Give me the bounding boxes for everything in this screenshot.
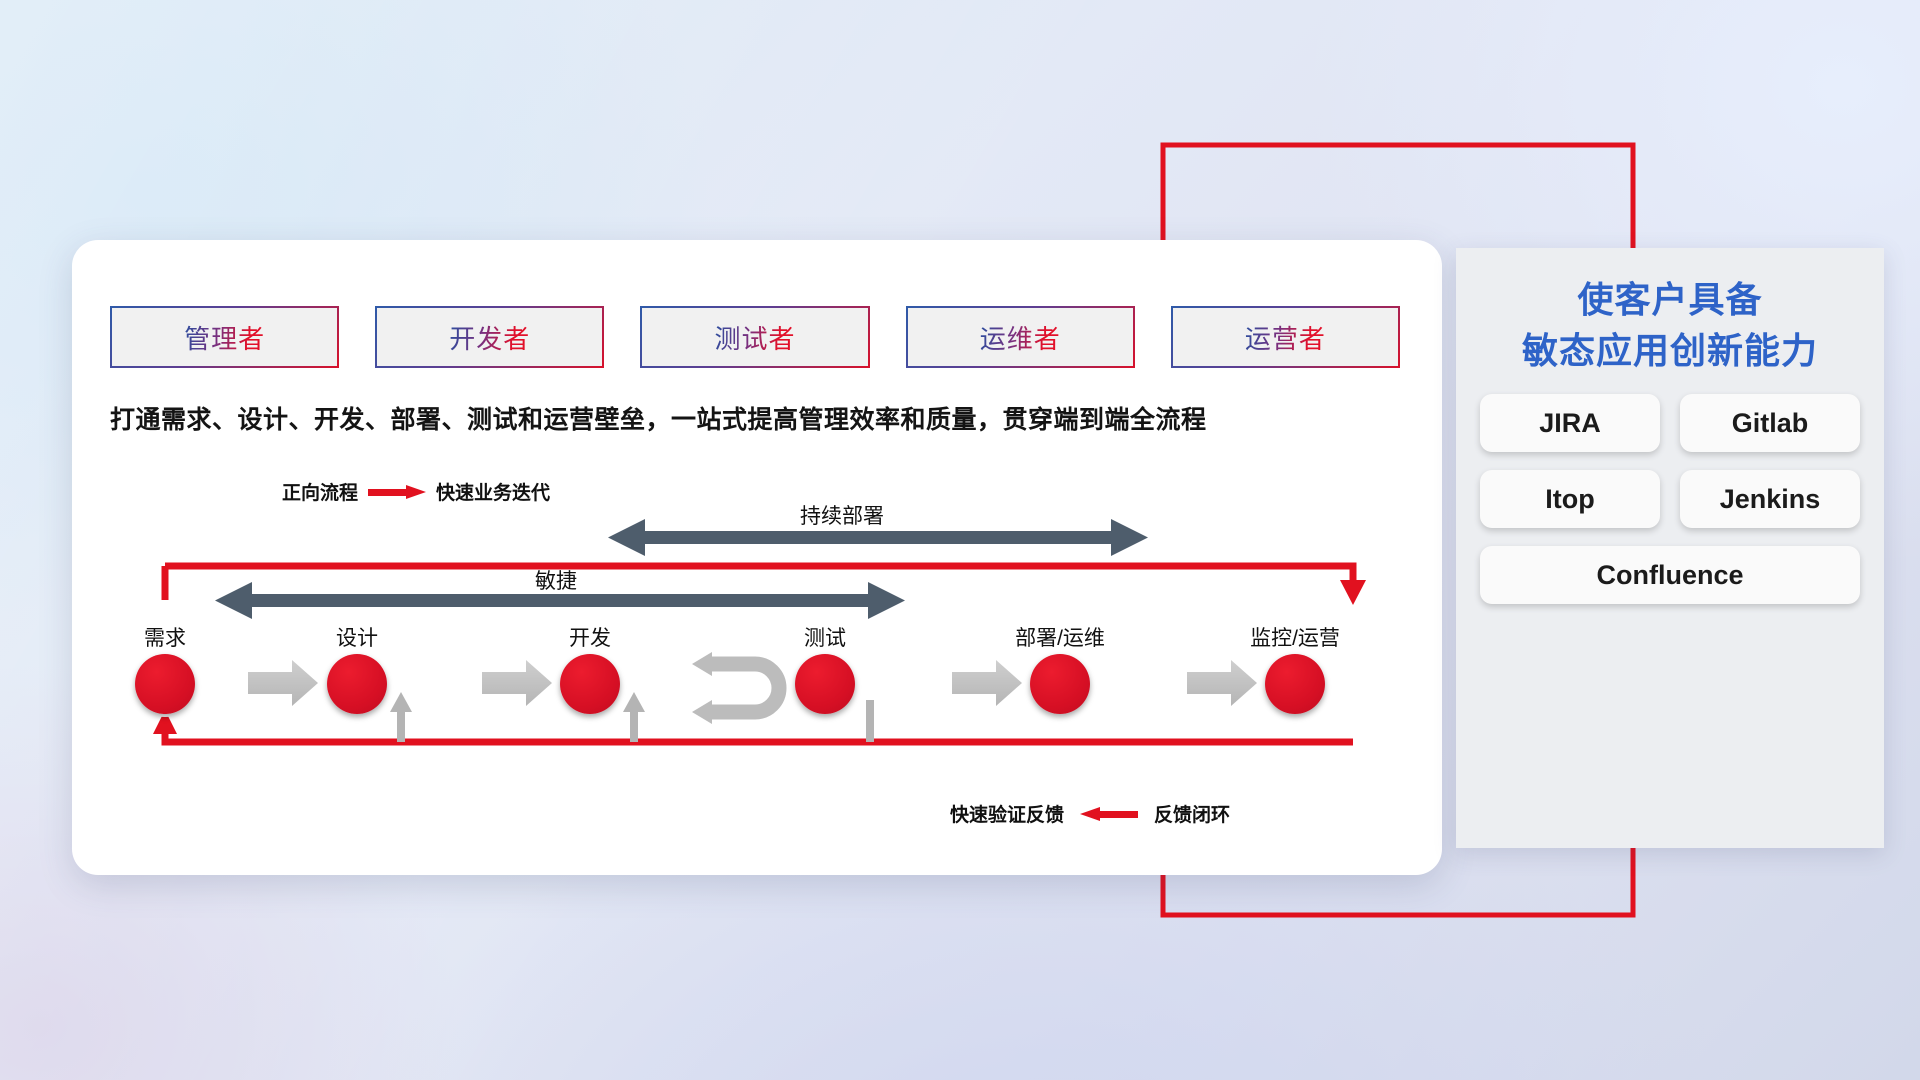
- stage-label: 开发: [530, 622, 650, 652]
- role-box-label: 运营者: [1245, 319, 1326, 356]
- tool-button-itop[interactable]: Itop: [1480, 470, 1660, 528]
- continuous-deploy-label: 持续部署: [800, 500, 884, 530]
- agile-label: 敏捷: [535, 565, 577, 595]
- stage-5[interactable]: 监控/运营: [1235, 622, 1355, 714]
- role-box-4[interactable]: 运营者: [1171, 306, 1400, 368]
- stage-dot: [1265, 654, 1325, 714]
- feedback-to-label: 反馈闭环: [1154, 800, 1230, 827]
- stage-dot: [1030, 654, 1090, 714]
- tools-panel-title: 使客户具备 敏态应用创新能力: [1456, 274, 1884, 376]
- stage-2[interactable]: 开发: [530, 622, 650, 714]
- forward-flow-from-label: 正向流程: [282, 478, 358, 505]
- role-box-1[interactable]: 开发者: [375, 306, 604, 368]
- headline-text: 打通需求、设计、开发、部署、测试和运营壁垒，一站式提高管理效率和质量，贯穿端到端…: [110, 400, 1410, 436]
- stage-dot: [560, 654, 620, 714]
- role-box-3[interactable]: 运维者: [906, 306, 1135, 368]
- role-box-label: 开发者: [449, 319, 530, 356]
- stage-label: 测试: [765, 622, 885, 652]
- role-box-2[interactable]: 测试者: [640, 306, 869, 368]
- tool-button-gitlab[interactable]: Gitlab: [1680, 394, 1860, 452]
- stage-4[interactable]: 部署/运维: [1000, 622, 1120, 714]
- tools-title-line2: 敏态应用创新能力: [1456, 325, 1884, 376]
- tools-title-line1: 使客户具备: [1456, 274, 1884, 325]
- stage-label: 部署/运维: [1000, 622, 1120, 652]
- stage-label: 需求: [105, 622, 225, 652]
- feedback-from-label: 快速验证反馈: [950, 800, 1064, 827]
- role-box-label: 管理者: [184, 319, 265, 356]
- role-box-row: 管理者 开发者 测试者 运维者 运营者: [110, 306, 1400, 368]
- stage-label: 设计: [297, 622, 417, 652]
- stage-label: 监控/运营: [1235, 622, 1355, 652]
- forward-flow-to-label: 快速业务迭代: [436, 478, 550, 505]
- tool-button-confluence[interactable]: Confluence: [1480, 546, 1860, 604]
- role-box-0[interactable]: 管理者: [110, 306, 339, 368]
- stage-0[interactable]: 需求: [105, 622, 225, 714]
- tool-button-jira[interactable]: JIRA: [1480, 394, 1660, 452]
- tool-button-grid: JIRA Gitlab Itop Jenkins Confluence: [1480, 394, 1860, 604]
- stage-1[interactable]: 设计: [297, 622, 417, 714]
- forward-flow-legend: 正向流程 快速业务迭代: [282, 478, 550, 505]
- red-arrow-left-icon: [1080, 807, 1138, 821]
- red-arrow-right-icon: [368, 485, 426, 499]
- tool-button-jenkins[interactable]: Jenkins: [1680, 470, 1860, 528]
- feedback-legend: 快速验证反馈 反馈闭环: [950, 800, 1230, 827]
- stage-dot: [135, 654, 195, 714]
- role-box-label: 测试者: [715, 319, 796, 356]
- role-box-label: 运维者: [980, 319, 1061, 356]
- tools-panel: 使客户具备 敏态应用创新能力 JIRA Gitlab Itop Jenkins …: [1456, 248, 1884, 848]
- stage-dot: [327, 654, 387, 714]
- stage-3[interactable]: 测试: [765, 622, 885, 714]
- stage-dot: [795, 654, 855, 714]
